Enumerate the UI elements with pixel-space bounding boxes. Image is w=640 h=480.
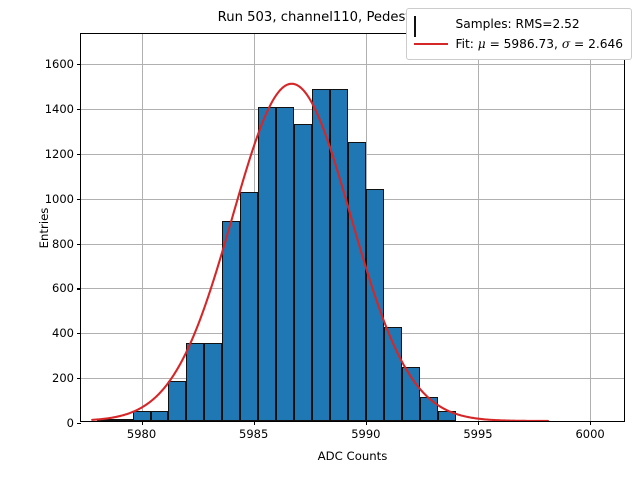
legend-sigma-symbol: σ: [562, 37, 570, 51]
legend-mu-value: = 5986.73,: [486, 37, 562, 51]
plot-area: 0200400600800100012001400160059805985599…: [80, 33, 625, 422]
x-axis-tick-label: 5985: [239, 427, 268, 441]
y-axis-tick-label: 1000: [45, 192, 74, 206]
y-axis-tick-label: 1400: [45, 102, 74, 116]
x-axis-tick: [590, 421, 591, 425]
y-axis-tick-label: 400: [52, 326, 74, 340]
figure-canvas: Run 503, channel110, Pedestal Entries AD…: [0, 0, 640, 480]
y-axis-tick-label: 800: [52, 237, 74, 251]
x-axis-tick: [478, 421, 479, 425]
legend-sigma-value: = 2.646: [570, 37, 623, 51]
y-axis-tick: [77, 423, 81, 424]
x-axis-tick-label: 5990: [351, 427, 380, 441]
plot-clip-region: [81, 34, 624, 421]
y-axis-tick: [77, 288, 81, 289]
x-axis-tick: [142, 421, 143, 425]
x-axis-title: ADC Counts: [80, 449, 625, 463]
y-axis-tick: [77, 378, 81, 379]
chart-legend[interactable]: Samples: RMS=2.52 Fit: μ = 5986.73, σ = …: [406, 8, 633, 60]
legend-item-fit[interactable]: Fit: μ = 5986.73, σ = 2.646: [414, 34, 624, 54]
y-axis-title-container: Entries: [14, 33, 30, 422]
y-axis-tick-label: 1200: [45, 147, 74, 161]
y-axis-tick: [77, 109, 81, 110]
y-axis-tick: [77, 244, 81, 245]
y-axis-tick-label: 200: [52, 371, 74, 385]
y-axis-tick: [77, 333, 81, 334]
legend-fit-prefix: Fit:: [456, 37, 478, 51]
fit-curve-path: [92, 84, 548, 421]
legend-item-samples[interactable]: Samples: RMS=2.52: [414, 14, 624, 34]
legend-label-fit: Fit: μ = 5986.73, σ = 2.646: [456, 37, 624, 51]
y-axis-tick-label: 600: [52, 281, 74, 295]
x-axis-tick: [366, 421, 367, 425]
legend-swatch-samples: [414, 17, 448, 31]
x-axis-tick-label: 5980: [127, 427, 156, 441]
legend-mu-symbol: μ: [478, 37, 486, 51]
y-axis-tick: [77, 199, 81, 200]
x-axis-tick-label: 5995: [463, 427, 492, 441]
y-axis-tick-label: 1600: [45, 57, 74, 71]
legend-label-samples: Samples: RMS=2.52: [456, 17, 580, 31]
gaussian-fit-curve: [81, 34, 624, 421]
y-axis-tick: [77, 64, 81, 65]
x-axis-tick-label: 6000: [575, 427, 604, 441]
y-axis-tick: [77, 154, 81, 155]
y-axis-tick-label: 0: [67, 416, 74, 430]
legend-swatch-fit: [414, 37, 448, 51]
x-axis-tick: [254, 421, 255, 425]
